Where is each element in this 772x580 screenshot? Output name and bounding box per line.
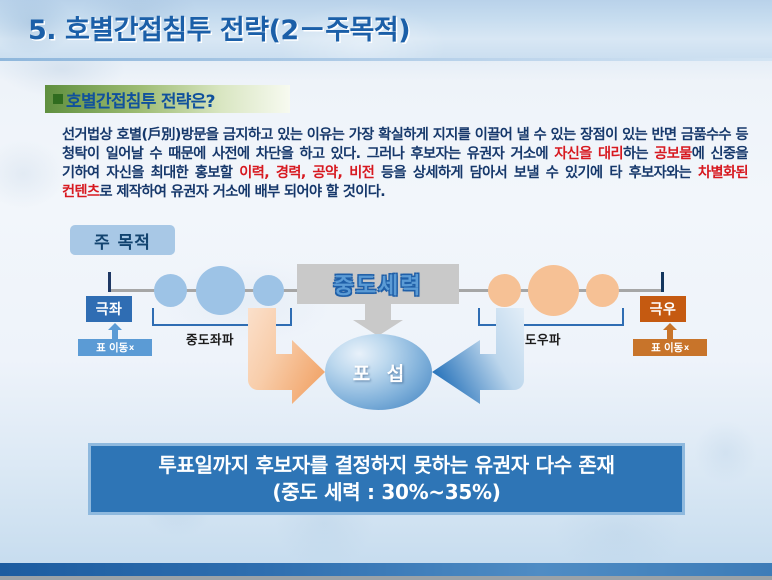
- capture-ellipse-label: 포 섭: [348, 359, 410, 386]
- arrow-orange-converge-icon: [248, 308, 325, 404]
- page-title: 5. 호별간접침투 전략(2－주목적): [28, 8, 410, 47]
- body-text: 로 제작하여 유권자 거소에 배부 되어야 할 것이다.: [100, 184, 386, 200]
- body-highlight-text: 이력, 경력, 공약, 비전: [239, 165, 374, 181]
- capture-ellipse: 포 섭: [325, 334, 432, 410]
- section-header-label: 호별간접침투 전략은?: [66, 87, 215, 112]
- body-paragraph: 선거법상 호별(戶別)방문을 금지하고 있는 이유는 가장 확실하게 지지를 이…: [62, 126, 748, 202]
- conclusion-banner: 투표일까지 후보자를 결정하지 못하는 유권자 다수 존재 (중도 세력 : 3…: [88, 443, 685, 515]
- arrow-blue-converge-icon: [432, 308, 524, 404]
- spectrum-diagram: 주 목적 중도좌파 중도우파 극좌 극우: [0, 222, 772, 427]
- body-highlight-text: 자신을 대리: [554, 146, 623, 162]
- title-underline: [0, 58, 772, 61]
- conclusion-line-2: (중도 세력 : 30%~35%): [272, 479, 500, 506]
- body-text: 하는: [623, 146, 654, 162]
- footer-edge: [0, 576, 772, 580]
- footer-bar: [0, 563, 772, 576]
- section-header: 호별간접침투 전략은?: [45, 85, 290, 113]
- square-bullet-icon: [53, 94, 63, 104]
- body-highlight-text: 공보물: [654, 146, 692, 162]
- body-text: 등을 상세하게 담아서 보낼 수 있기에 타 후보자와는: [374, 165, 698, 181]
- conclusion-line-1: 투표일까지 후보자를 결정하지 못하는 유권자 다수 존재: [158, 452, 614, 479]
- slide-canvas: 5. 호별간접침투 전략(2－주목적) 호별간접침투 전략은? 선거법상 호별(…: [0, 0, 772, 580]
